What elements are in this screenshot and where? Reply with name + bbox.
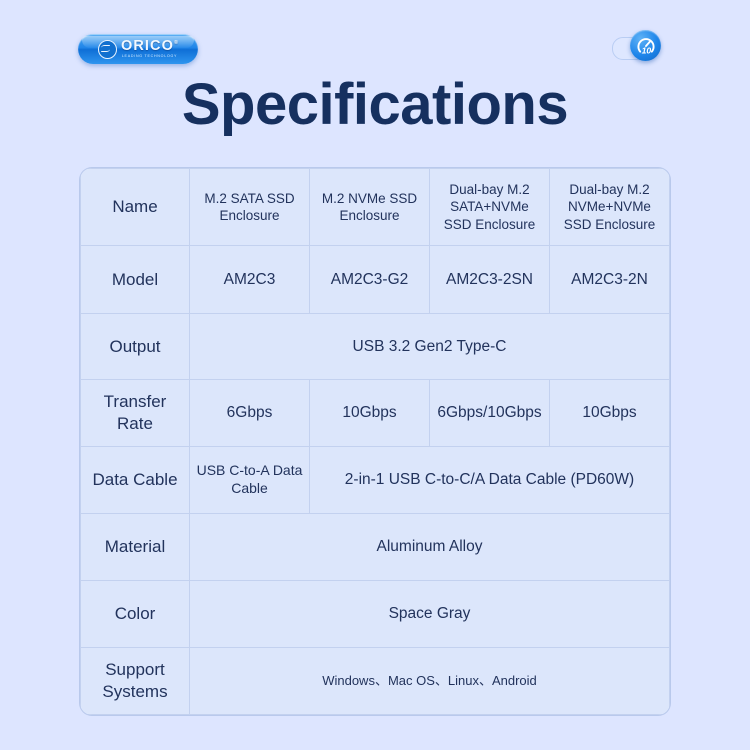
cell-support-merged: Windows、Mac OS、Linux、Android — [190, 648, 670, 715]
cell-name-col3: Dual-bay M.2 SATA+NVMe SSD Enclosure — [430, 169, 550, 246]
row-label-name: Name — [81, 169, 190, 246]
cell-material-merged: Aluminum Alloy — [190, 514, 670, 581]
orico-tagline: LEADING TECHNOLOGY — [122, 55, 177, 59]
cell-model-col2: AM2C3-G2 — [310, 246, 430, 314]
specifications-table: Name M.2 SATA SSD Enclosure M.2 NVMe SSD… — [80, 168, 670, 715]
table-row-name: Name M.2 SATA SSD Enclosure M.2 NVMe SSD… — [81, 169, 670, 246]
cell-output-merged: USB 3.2 Gen2 Type-C — [190, 314, 670, 380]
row-label-support-systems: Support Systems — [81, 648, 190, 715]
cell-model-col3: AM2C3-2SN — [430, 246, 550, 314]
cell-color-merged: Space Gray — [190, 581, 670, 648]
orico-logo-text: ORICO® LEADING TECHNOLOGY — [121, 39, 178, 59]
cell-rate-col3: 6Gbps/10Gbps — [430, 380, 550, 447]
speed-gauge-icon: 10 — [630, 30, 661, 61]
orico-logo[interactable]: ORICO® LEADING TECHNOLOGY — [78, 34, 198, 64]
cell-cable-col1: USB C-to-A Data Cable — [190, 447, 310, 514]
row-label-model: Model — [81, 246, 190, 314]
cell-model-col1: AM2C3 — [190, 246, 310, 314]
orico-swoosh-icon — [98, 40, 117, 59]
cell-name-col2: M.2 NVMe SSD Enclosure — [310, 169, 430, 246]
table-row-data-cable: Data Cable USB C-to-A Data Cable 2-in-1 … — [81, 447, 670, 514]
table-row-color: Color Space Gray — [81, 581, 670, 648]
row-label-material: Material — [81, 514, 190, 581]
cell-model-col4: AM2C3-2N — [550, 246, 670, 314]
table-row-output: Output USB 3.2 Gen2 Type-C — [81, 314, 670, 380]
row-label-output: Output — [81, 314, 190, 380]
orico-wordmark: ORICO® — [121, 39, 178, 54]
row-label-data-cable: Data Cable — [81, 447, 190, 514]
orico-wordmark-text: ORICO — [121, 38, 174, 54]
svg-text:10: 10 — [641, 45, 651, 55]
cell-rate-col4: 10Gbps — [550, 380, 670, 447]
cell-cable-merged: 2-in-1 USB C-to-C/A Data Cable (PD60W) — [310, 447, 670, 514]
cell-name-col4: Dual-bay M.2 NVMe+NVMe SSD Enclosure — [550, 169, 670, 246]
row-label-color: Color — [81, 581, 190, 648]
cell-rate-col1: 6Gbps — [190, 380, 310, 447]
speed-badge: 10 — [627, 30, 661, 64]
table-row-support-systems: Support Systems Windows、Mac OS、Linux、And… — [81, 648, 670, 715]
cell-name-col1: M.2 SATA SSD Enclosure — [190, 169, 310, 246]
cell-rate-col2: 10Gbps — [310, 380, 430, 447]
row-label-transfer-rate: Transfer Rate — [81, 380, 190, 447]
page-title: Specifications — [0, 76, 750, 134]
registered-trademark-icon: ® — [174, 40, 178, 46]
table-row-transfer-rate: Transfer Rate 6Gbps 10Gbps 6Gbps/10Gbps … — [81, 380, 670, 447]
table-row-material: Material Aluminum Alloy — [81, 514, 670, 581]
table-row-model: Model AM2C3 AM2C3-G2 AM2C3-2SN AM2C3-2N — [81, 246, 670, 314]
